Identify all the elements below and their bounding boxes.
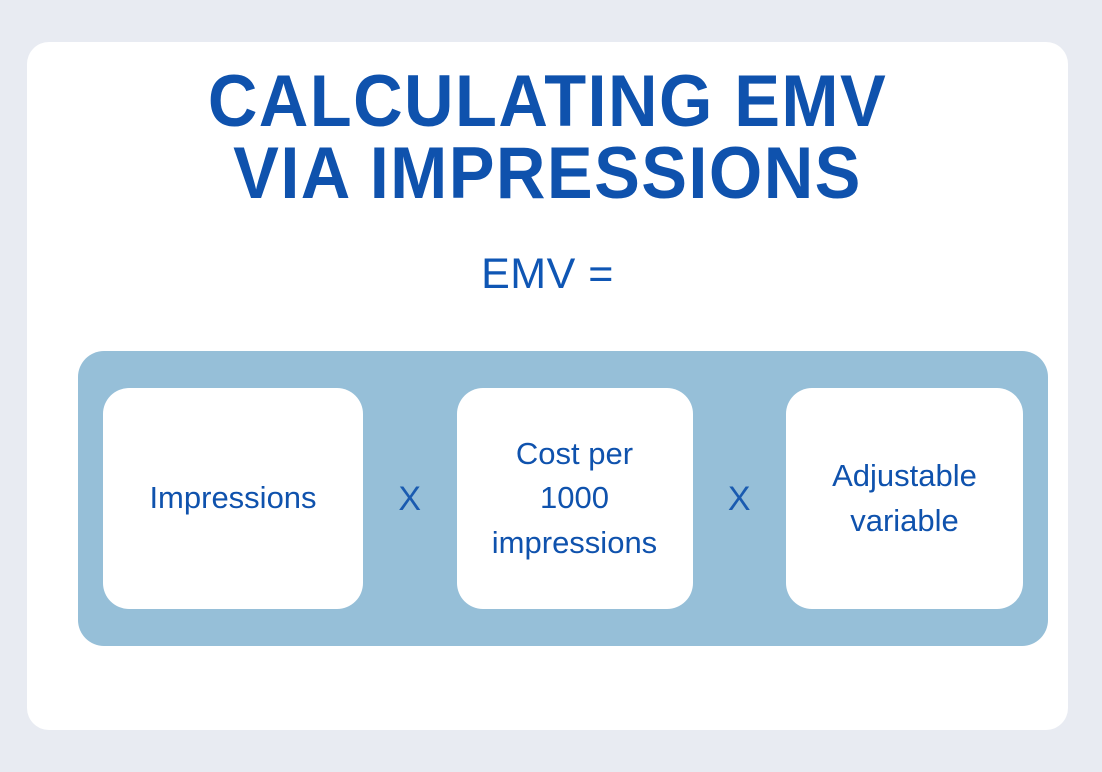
multiply-operator-2: X [693, 482, 787, 516]
formula-term-adjustable-variable-label: Adjustable variable [832, 454, 977, 542]
infographic-root: CALCULATING EMV VIA IMPRESSIONS EMV = Im… [0, 0, 1102, 772]
formula-term-cost-per-1000-impressions: Cost per 1000 impressions [457, 388, 693, 609]
formula-label: EMV = [27, 250, 1068, 299]
page-title-line-1: CALCULATING EMV [58, 66, 1037, 138]
formula-term-adjustable-variable: Adjustable variable [786, 388, 1023, 609]
formula-panel: Impressions X Cost per 1000 impressions … [78, 351, 1048, 646]
formula-row: Impressions X Cost per 1000 impressions … [78, 388, 1048, 609]
page-title: CALCULATING EMV VIA IMPRESSIONS [27, 66, 1068, 210]
multiply-operator-1: X [363, 482, 457, 516]
infographic-card: CALCULATING EMV VIA IMPRESSIONS EMV = Im… [27, 42, 1068, 730]
formula-term-cost-per-1000-impressions-label: Cost per 1000 impressions [492, 432, 657, 564]
page-title-line-2: VIA IMPRESSIONS [58, 138, 1037, 210]
formula-term-impressions-label: Impressions [149, 476, 316, 520]
formula-term-impressions: Impressions [103, 388, 363, 609]
